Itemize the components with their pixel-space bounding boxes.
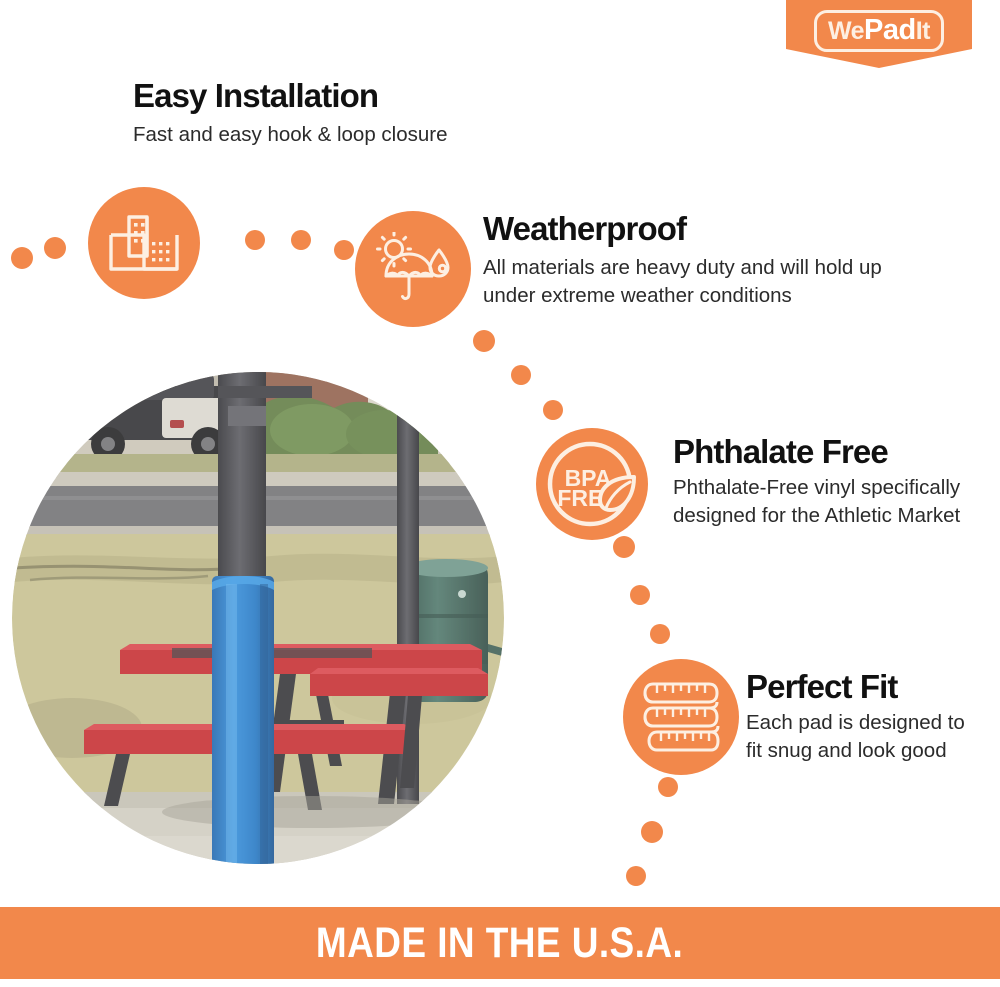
trail-dot — [291, 230, 311, 250]
trail-dot — [245, 230, 265, 250]
logo-text-pad: Pad — [864, 16, 916, 45]
product-photo — [12, 368, 504, 868]
brand-logo-banner: We Pad It — [786, 0, 972, 68]
feature-block-weatherproof: Weatherproof All materials are heavy dut… — [483, 211, 913, 309]
feature-block-phthalate-free: Phthalate Free Phthalate-Free vinyl spec… — [673, 434, 973, 529]
trail-dot — [626, 866, 646, 886]
infographic-page: We Pad It Easy Installation Fast and eas… — [0, 0, 1000, 987]
trail-dot — [511, 365, 531, 385]
bpa-free-leaf-icon: BPA FREE — [536, 428, 648, 540]
feature-desc-perfect-fit: Each pad is designed to fit snug and loo… — [746, 709, 986, 764]
trail-dot — [613, 536, 635, 558]
logo-text-we: We — [828, 19, 864, 44]
feature-desc-easy-installation: Fast and easy hook & loop closure — [133, 121, 563, 148]
trail-dot — [630, 585, 650, 605]
trail-dot — [650, 624, 670, 644]
trail-dot — [11, 247, 33, 269]
feature-title-phthalate-free: Phthalate Free — [673, 434, 973, 470]
logo-text-it: It — [916, 19, 930, 44]
feature-desc-phthalate-free: Phthalate-Free vinyl specifically design… — [673, 474, 973, 529]
feature-block-perfect-fit: Perfect Fit Each pad is designed to fit … — [746, 669, 986, 764]
trail-dot — [641, 821, 663, 843]
measuring-tape-icon — [623, 659, 739, 775]
feature-title-easy-installation: Easy Installation — [133, 78, 563, 114]
building-installation-icon — [88, 187, 200, 299]
trail-dot — [543, 400, 563, 420]
trail-dot — [44, 237, 66, 259]
made-in-usa-banner: MADE IN THE U.S.A. — [0, 907, 1000, 979]
feature-title-perfect-fit: Perfect Fit — [746, 669, 986, 705]
trail-dot — [334, 240, 354, 260]
trail-dot — [658, 777, 678, 797]
trail-dot — [473, 330, 495, 352]
feature-title-weatherproof: Weatherproof — [483, 211, 913, 247]
made-in-usa-text: MADE IN THE U.S.A. — [316, 919, 683, 968]
feature-block-easy-installation: Easy Installation Fast and easy hook & l… — [133, 78, 563, 149]
brand-logo-pill: We Pad It — [814, 10, 944, 52]
sun-umbrella-raindrop-icon — [355, 211, 471, 327]
feature-desc-weatherproof: All materials are heavy duty and will ho… — [483, 254, 913, 309]
